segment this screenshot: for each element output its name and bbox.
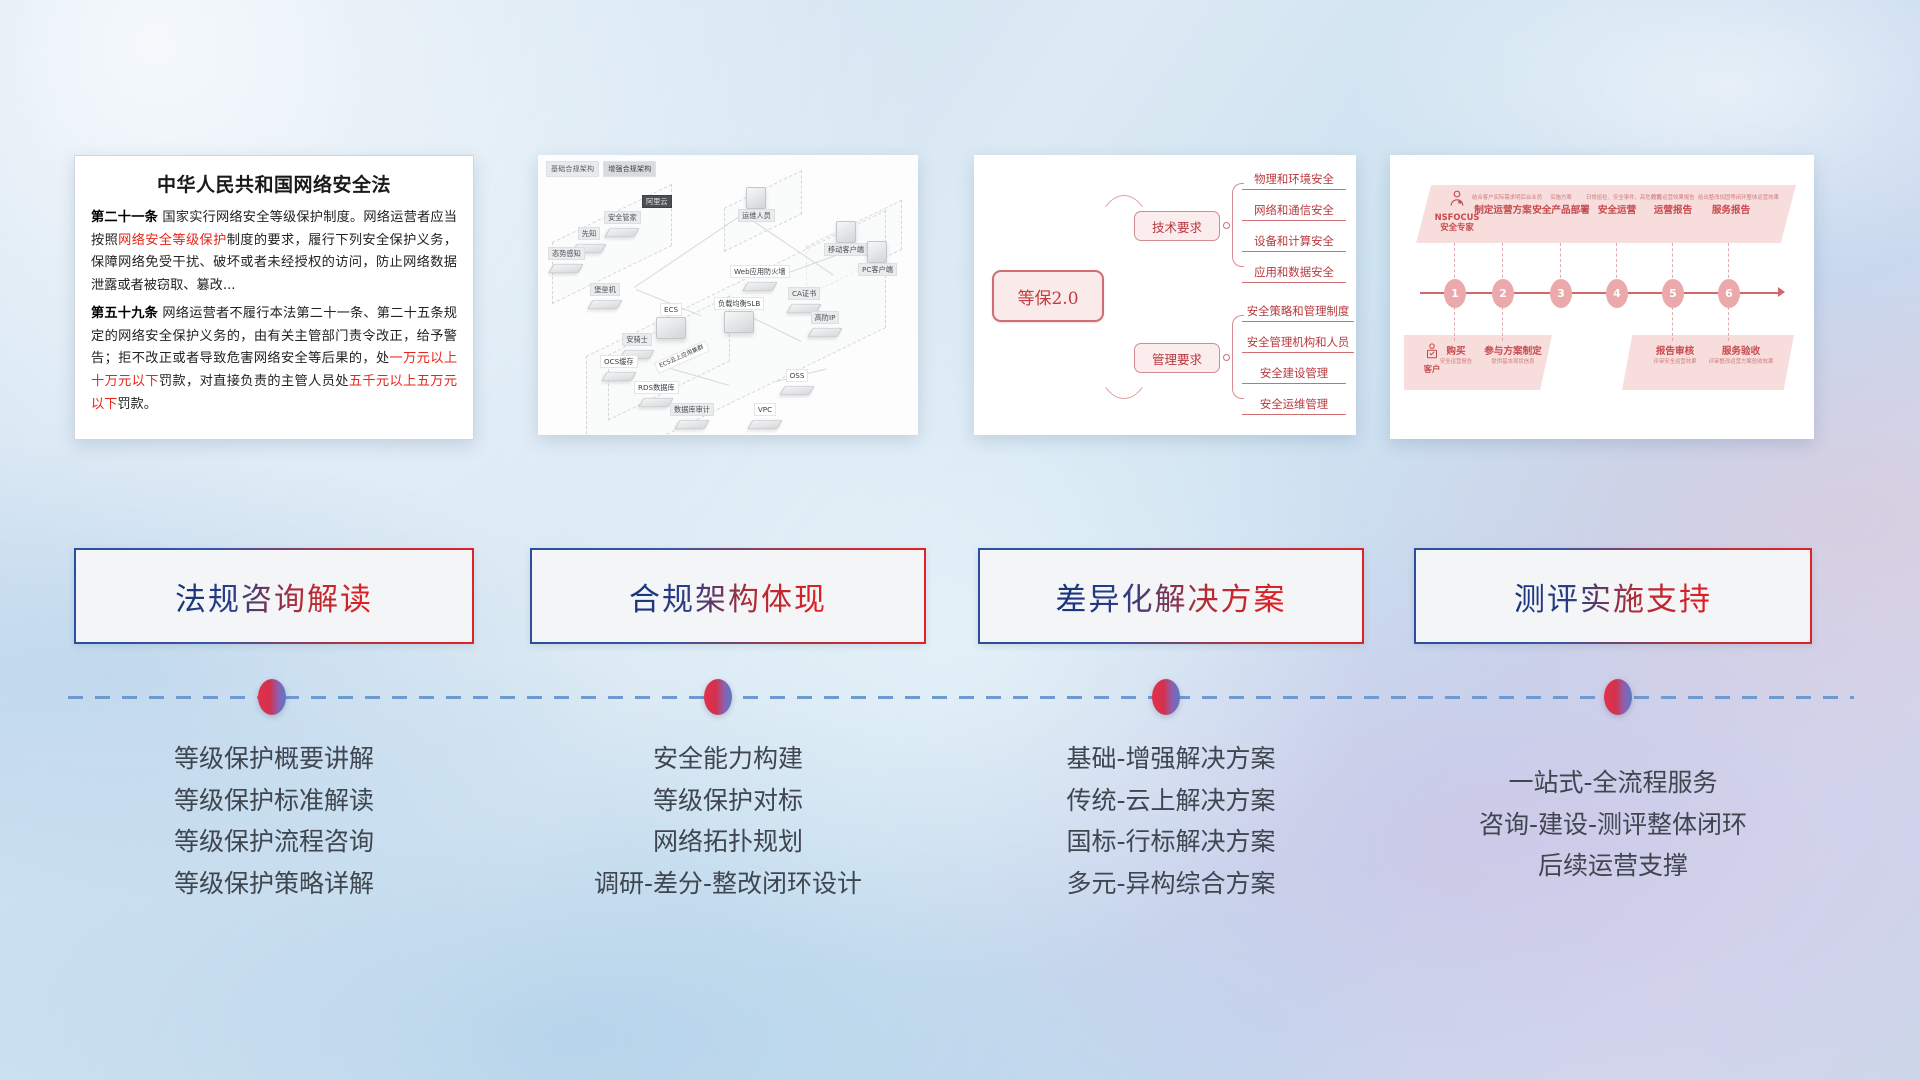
list-item: 等级保护流程咨询 (74, 821, 474, 863)
list-item: 等级保护概要讲解 (74, 738, 474, 780)
timeline-node-3[interactable]: 3 (1550, 279, 1572, 308)
arch-node-rds-db: RDS数据库 (634, 381, 679, 394)
article-21-highlight: 网络安全等级保护 (118, 233, 227, 248)
timeline-step-6-title: 服务报告 (1698, 202, 1764, 216)
list-item: 安全能力构建 (530, 738, 926, 780)
section-title-2: 合规架构体现 (629, 574, 827, 619)
timeline-node-5[interactable]: 5 (1662, 279, 1684, 308)
arch-node-security-butler: 安全管家 (604, 211, 641, 224)
mindmap-leaf-m3: 安全建设管理 (1242, 365, 1346, 384)
feature-list-3: 基础-增强解决方案 传统-云上解决方案 国标-行标解决方案 多元-异构综合方案 (978, 738, 1364, 904)
timeline-arrow-icon (1778, 287, 1785, 297)
mindmap-root-node: 等保2.0 (992, 270, 1104, 322)
timeline-step-2-sub: 结合客户实际需求明后台业员 (1472, 193, 1534, 201)
timeline-step-2: 结合客户实际需求明后台业员 制定运营方案 (1472, 193, 1534, 216)
timeline-cstep-buy-title: 购买 (1434, 343, 1478, 357)
arch-node-situational-awareness: 态势感知 (548, 247, 585, 260)
list-item: 后续运营支撑 (1414, 845, 1812, 887)
law-heading: 中华人民共和国网络安全法 (91, 170, 457, 197)
arch-tab-enhanced[interactable]: 增强合规架构 (603, 161, 656, 177)
timeline-step-3-title: 安全产品部署 (1530, 202, 1592, 216)
arch-node-ocs-cache: OCS缓存 (600, 355, 638, 368)
timeline-step-4-title: 安全运营 (1586, 202, 1648, 216)
timeline-cstep-review: 报告审核 评审安全运营效果 (1642, 343, 1708, 366)
timeline-node-4[interactable]: 4 (1606, 279, 1628, 308)
mindmap-leaf-m2: 安全管理机构和人员 (1242, 334, 1354, 353)
timeline-cstep-plan-sub: 提供基本现状信息 (1478, 357, 1548, 365)
timeline-cstep-accept-sub: 评审整改运营方案验收效果 (1706, 357, 1776, 365)
mindmap-branch-management: 管理要求 (1134, 343, 1220, 373)
section-title-box-3[interactable]: 差异化解决方案 (978, 548, 1364, 644)
arch-tab-basic[interactable]: 基础合规架构 (546, 161, 599, 177)
card-compliance-architecture[interactable]: 基础合规架构 增强合规架构 阿里云 (538, 155, 918, 435)
card-cybersecurity-law[interactable]: 中华人民共和国网络安全法 第二十一条 国家实行网络安全等级保护制度。网络运营者应… (74, 155, 474, 440)
timeline-step-3-sub: 实施方案 (1530, 193, 1592, 201)
timeline-cstep-accept-title: 服务验收 (1706, 343, 1776, 357)
card-service-timeline[interactable]: NSFOCUS 安全专家 客户 (1390, 155, 1814, 439)
arch-node-bastion-host: 堡垒机 (590, 283, 620, 296)
list-item: 等级保护标准解读 (74, 780, 474, 822)
timeline-node-6[interactable]: 6 (1718, 279, 1740, 308)
timeline-cstep-buy-sub: 安全运营报告 (1434, 357, 1478, 365)
arch-chip-aliyun: 阿里云 (642, 195, 672, 208)
timeline-cstep-review-title: 报告审核 (1642, 343, 1708, 357)
mindmap-leaf-t2: 网络和通信安全 (1242, 202, 1346, 221)
vendor-name-line2: 安全专家 (1428, 223, 1486, 233)
section-title-row: 法规咨询解读 合规架构体现 差异化解决方案 测评实施支持 (0, 548, 1920, 648)
mindmap-leaf-t4: 应用和数据安全 (1242, 264, 1346, 283)
article-59-text-b: 罚款，对直接负责的主管人员处 (159, 374, 349, 389)
timeline-step-4-sub: 日常巡检、安全事件、高危处置 (1586, 193, 1648, 201)
list-item: 传统-云上解决方案 (978, 780, 1364, 822)
section-title-box-4[interactable]: 测评实施支持 (1414, 548, 1812, 644)
arch-node-waf: Web应用防火墙 (730, 265, 790, 278)
list-item: 国标-行标解决方案 (978, 821, 1364, 863)
timeline-step-5-sub: 阶段运营效果报告 (1642, 193, 1704, 201)
arch-node-anqishi: 安骑士 (622, 333, 652, 346)
section-title-box-1[interactable]: 法规咨询解读 (74, 548, 474, 644)
timeline-step-6: 给出整改加固等闭环整体运营效果 服务报告 (1698, 193, 1764, 216)
arch-node-oss: OSS (786, 369, 809, 382)
mindmap-branch-technical: 技术要求 (1134, 211, 1220, 241)
timeline-node-1[interactable]: 1 (1444, 279, 1466, 308)
customer-name: 客户 (1410, 365, 1454, 375)
feature-list-4: 一站式-全流程服务 咨询-建设-测评整体闭环 后续运营支撑 (1414, 762, 1812, 887)
arch-node-ecs: ECS (660, 303, 682, 316)
card-dengbao-mindmap[interactable]: 等保2.0 技术要求 物理和环境安全 网络和通信安全 设备和计算安全 应用和数据… (974, 155, 1356, 435)
section-title-box-2[interactable]: 合规架构体现 (530, 548, 926, 644)
timeline-step-4: 日常巡检、安全事件、高危处置 安全运营 (1586, 193, 1648, 216)
timeline-marker-3[interactable] (1152, 679, 1180, 715)
timeline-marker-1[interactable] (258, 679, 286, 715)
list-item: 网络拓扑规划 (530, 821, 926, 863)
article-59-label: 第五十九条 (91, 306, 158, 321)
timeline-marker-2[interactable] (704, 679, 732, 715)
timeline-step-2-title: 制定运营方案 (1472, 202, 1534, 216)
timeline-cstep-accept: 服务验收 评审整改运营方案验收效果 (1706, 343, 1776, 366)
list-item: 多元-异构综合方案 (978, 863, 1364, 905)
timeline-marker-4[interactable] (1604, 679, 1632, 715)
list-item: 一站式-全流程服务 (1414, 762, 1812, 804)
mindmap-leaf-m1: 安全策略和管理制度 (1242, 303, 1354, 322)
timeline-cstep-buy: 购买 安全运营报告 (1434, 343, 1478, 366)
section-title-3: 差异化解决方案 (1056, 574, 1287, 619)
section-title-4: 测评实施支持 (1514, 574, 1712, 619)
feature-list-1: 等级保护概要讲解 等级保护标准解读 等级保护流程咨询 等级保护策略详解 (74, 738, 474, 904)
timeline-step-6-sub: 给出整改加固等闭环整体运营效果 (1698, 193, 1764, 201)
section-title-1: 法规咨询解读 (175, 574, 373, 619)
arch-node-vpc: VPC (754, 403, 776, 416)
list-item: 等级保护对标 (530, 780, 926, 822)
timeline-step-5: 阶段运营效果报告 运营报告 (1642, 193, 1704, 216)
mindmap-leaf-m4: 安全运维管理 (1242, 396, 1346, 415)
arch-node-pc-client: PC客户端 (858, 263, 897, 276)
timeline-node-2[interactable]: 2 (1492, 279, 1514, 308)
list-item: 调研-差分-整改闭环设计 (530, 863, 926, 905)
timeline-cstep-plan-title: 参与方案制定 (1478, 343, 1548, 357)
timeline-step-3: 实施方案 安全产品部署 (1530, 193, 1592, 216)
timeline-rail (68, 696, 1854, 699)
mindmap-collapse-dot-technical[interactable] (1223, 222, 1230, 229)
law-article-59: 第五十九条 网络运营者不履行本法第二十一条、第二十五条规定的网络安全保护义务的，… (91, 303, 457, 417)
arch-node-ca-cert: CA证书 (788, 287, 820, 300)
arch-node-anti-ddos-ip: 高防IP (811, 311, 840, 324)
expert-avatar-icon (1447, 189, 1467, 209)
list-item: 等级保护策略详解 (74, 863, 474, 905)
mindmap-leaf-t1: 物理和环境安全 (1242, 171, 1346, 190)
timeline-cstep-plan: 参与方案制定 提供基本现状信息 (1478, 343, 1548, 366)
arch-node-ops-staff: 运维人员 (738, 209, 775, 222)
arch-node-xianzhi: 先知 (578, 227, 600, 240)
timeline-cstep-review-sub: 评审安全运营效果 (1642, 357, 1708, 365)
list-item: 咨询-建设-测评整体闭环 (1414, 804, 1812, 846)
arch-node-slb: 负载均衡SLB (714, 297, 764, 310)
article-59-text-c: 罚款。 (117, 397, 157, 412)
law-article-21: 第二十一条 国家实行网络安全等级保护制度。网络运营者应当按照网络安全等级保护制度… (91, 207, 457, 298)
list-item: 基础-增强解决方案 (978, 738, 1364, 780)
timeline-step-5-title: 运营报告 (1642, 202, 1704, 216)
article-21-label: 第二十一条 (91, 210, 158, 225)
arch-node-db-audit: 数据库审计 (670, 403, 714, 416)
feature-list-2: 安全能力构建 等级保护对标 网络拓扑规划 调研-差分-整改闭环设计 (530, 738, 926, 904)
illustration-card-row: 中华人民共和国网络安全法 第二十一条 国家实行网络安全等级保护制度。网络运营者应… (0, 155, 1920, 445)
arch-tab-group[interactable]: 基础合规架构 增强合规架构 (546, 161, 656, 177)
mindmap-collapse-dot-management[interactable] (1223, 354, 1230, 361)
mindmap-leaf-t3: 设备和计算安全 (1242, 233, 1346, 252)
